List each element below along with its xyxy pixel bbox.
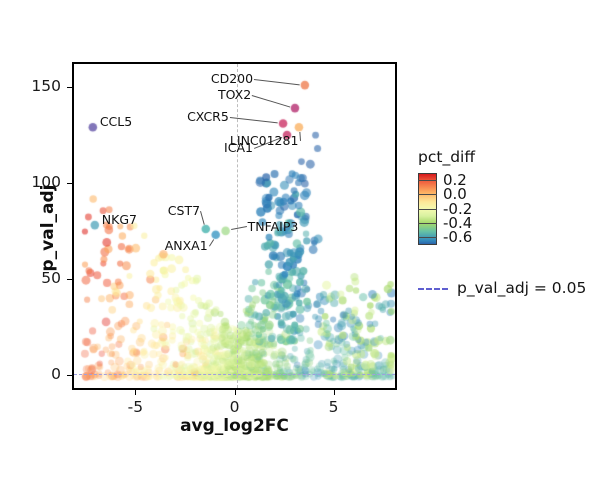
y-tick-mark: [67, 375, 72, 376]
colorbar-tick-mark: [418, 209, 437, 210]
y-axis-label: p_val_adj: [38, 108, 58, 348]
volcano-plot-figure: CCL5NKG7CST7ANXA1TNFAIP3CD200TOX2CXCR5IC…: [0, 0, 600, 500]
gene-label-cd200: CD200: [211, 73, 253, 86]
y-tick-label: 0: [15, 367, 61, 383]
y-tick-mark: [67, 183, 72, 184]
colorbar-tick-mark: [418, 237, 437, 238]
colorbar-wrap: 0.20.0-0.2-0.4-0.6: [418, 173, 593, 247]
gene-label-cxcr5: CXCR5: [187, 111, 229, 124]
threshold-line-legend: p_val_adj = 0.05: [418, 281, 586, 297]
vertical-reference-line: [237, 64, 238, 388]
colorbar-tick-label: -0.6: [443, 230, 472, 245]
colorbar-tick-mark: [418, 194, 437, 195]
gene-label-anxa1: ANXA1: [165, 240, 208, 253]
gene-label-cst7: CST7: [168, 205, 200, 218]
y-tick-mark: [67, 279, 72, 280]
plot-panel: CCL5NKG7CST7ANXA1TNFAIP3CD200TOX2CXCR5IC…: [72, 62, 397, 390]
colorbar-tick-mark: [418, 180, 437, 181]
x-tick-label: -5: [115, 400, 155, 416]
colorbar-legend: pct_diff 0.20.0-0.2-0.4-0.6: [418, 150, 593, 247]
pvalue-threshold-line: [74, 374, 395, 375]
x-tick-label: 5: [314, 400, 354, 416]
gene-label-nkg7: NKG7: [102, 214, 137, 227]
gene-label-linc01281: LINC01281: [230, 135, 299, 148]
y-tick-label: 150: [15, 79, 61, 95]
x-tick-mark: [334, 390, 335, 395]
gene-label-ccl5: CCL5: [100, 116, 132, 129]
colorbar-title: pct_diff: [418, 150, 593, 166]
gene-label-tox2: TOX2: [218, 89, 251, 102]
x-tick-mark: [135, 390, 136, 395]
x-axis-label: avg_log2FC: [72, 416, 397, 436]
y-tick-mark: [67, 87, 72, 88]
x-tick-mark: [235, 390, 236, 395]
threshold-line-legend-label: p_val_adj = 0.05: [457, 281, 586, 297]
gene-label-tnfaip3: TNFAIP3: [248, 221, 299, 234]
colorbar-tick-mark: [418, 223, 437, 224]
dashed-line-swatch: [418, 288, 448, 290]
x-tick-label: 0: [215, 400, 255, 416]
